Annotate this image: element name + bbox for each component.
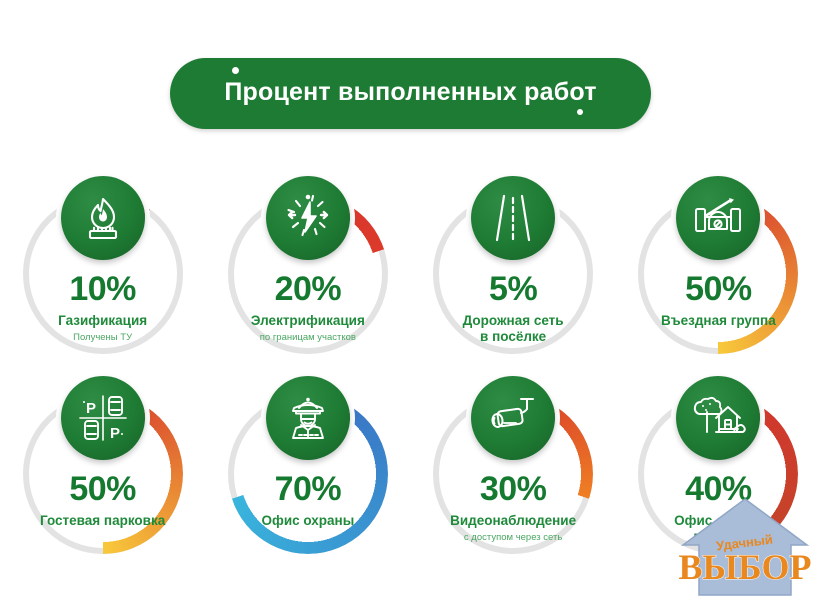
progress-cell: 40% Офис отделапродаж: [616, 376, 821, 576]
donut-chart: 20% Электрификация по границам участков: [220, 176, 396, 364]
metric-texts: 10% Газификация Получены ТУ: [15, 272, 191, 343]
svg-text:P: P: [110, 425, 120, 442]
metric-texts: 40% Офис отделапродаж: [630, 472, 806, 545]
donut-chart: 70% Офис охраны: [220, 376, 396, 564]
progress-cell: P P 50% Гостевая парковка: [0, 376, 205, 576]
metric-texts: 5% Дорожная сетьв посёлке: [425, 272, 601, 345]
metric-sublabel: с доступом через сеть: [425, 532, 601, 543]
metric-texts: 30% Видеонаблюдение с доступом через сет…: [425, 472, 601, 543]
gas-flame-badge: [61, 176, 145, 260]
svg-text:P: P: [86, 400, 96, 417]
metric-texts: 20% Электрификация по границам участков: [220, 272, 396, 343]
progress-cell: 20% Электрификация по границам участков: [205, 176, 410, 376]
metric-label: Газификация: [15, 313, 191, 329]
cctv-camera-badge: [471, 376, 555, 460]
progress-cell: 70% Офис охраны: [205, 376, 410, 576]
metric-texts: 50% Въездная группа: [630, 272, 806, 329]
metric-percent: 50%: [15, 472, 191, 506]
metric-percent: 10%: [15, 272, 191, 306]
metric-sublabel: по границам участков: [220, 332, 396, 343]
sparkle-dot-icon: [577, 109, 583, 115]
metric-label: Электрификация: [220, 313, 396, 329]
road-icon: [487, 192, 539, 244]
metric-label: Офис охраны: [220, 513, 396, 529]
house-tree-badge: [676, 376, 760, 460]
barrier-gate-icon: [691, 195, 745, 241]
lightning-bolt-icon: [282, 192, 334, 244]
parking-icon: P P: [77, 393, 129, 443]
lightning-bolt-badge: [266, 176, 350, 260]
parking-badge: P P: [61, 376, 145, 460]
donut-chart: 10% Газификация Получены ТУ: [15, 176, 191, 364]
metric-percent: 5%: [425, 272, 601, 306]
cctv-camera-icon: [486, 395, 540, 441]
gas-flame-icon: [78, 193, 128, 243]
donut-chart: 40% Офис отделапродаж: [630, 376, 806, 564]
metric-texts: 70% Офис охраны: [220, 472, 396, 529]
header: Процент выполненных работ: [0, 58, 821, 129]
barrier-gate-badge: [676, 176, 760, 260]
security-guard-badge: [266, 376, 350, 460]
metric-label: Въездная группа: [630, 313, 806, 329]
donut-chart: 30% Видеонаблюдение с доступом через сет…: [425, 376, 601, 564]
sparkle-dot-icon: [232, 67, 239, 74]
progress-cell: 30% Видеонаблюдение с доступом через сет…: [411, 376, 616, 576]
donut-chart: 50% Въездная группа: [630, 176, 806, 364]
progress-cell: 10% Газификация Получены ТУ: [0, 176, 205, 376]
progress-grid: 10% Газификация Получены ТУ 20% Электриф…: [0, 176, 821, 576]
security-guard-icon: [282, 392, 334, 444]
metric-percent: 70%: [220, 472, 396, 506]
metric-sublabel: Получены ТУ: [15, 332, 191, 343]
road-badge: [471, 176, 555, 260]
title-pill: Процент выполненных работ: [170, 58, 650, 129]
progress-cell: 50% Въездная группа: [616, 176, 821, 376]
metric-label: Дорожная сетьв посёлке: [425, 313, 601, 345]
page-title: Процент выполненных работ: [224, 80, 596, 105]
metric-texts: 50% Гостевая парковка: [15, 472, 191, 529]
metric-label: Гостевая парковка: [15, 513, 191, 529]
metric-percent: 40%: [630, 472, 806, 506]
metric-label: Видеонаблюдение: [425, 513, 601, 529]
progress-cell: 5% Дорожная сетьв посёлке: [411, 176, 616, 376]
metric-percent: 30%: [425, 472, 601, 506]
house-tree-icon: [690, 394, 746, 442]
donut-chart: P P 50% Гостевая парковка: [15, 376, 191, 564]
metric-label: Офис отделапродаж: [630, 513, 806, 545]
donut-chart: 5% Дорожная сетьв посёлке: [425, 176, 601, 364]
metric-percent: 50%: [630, 272, 806, 306]
metric-percent: 20%: [220, 272, 396, 306]
